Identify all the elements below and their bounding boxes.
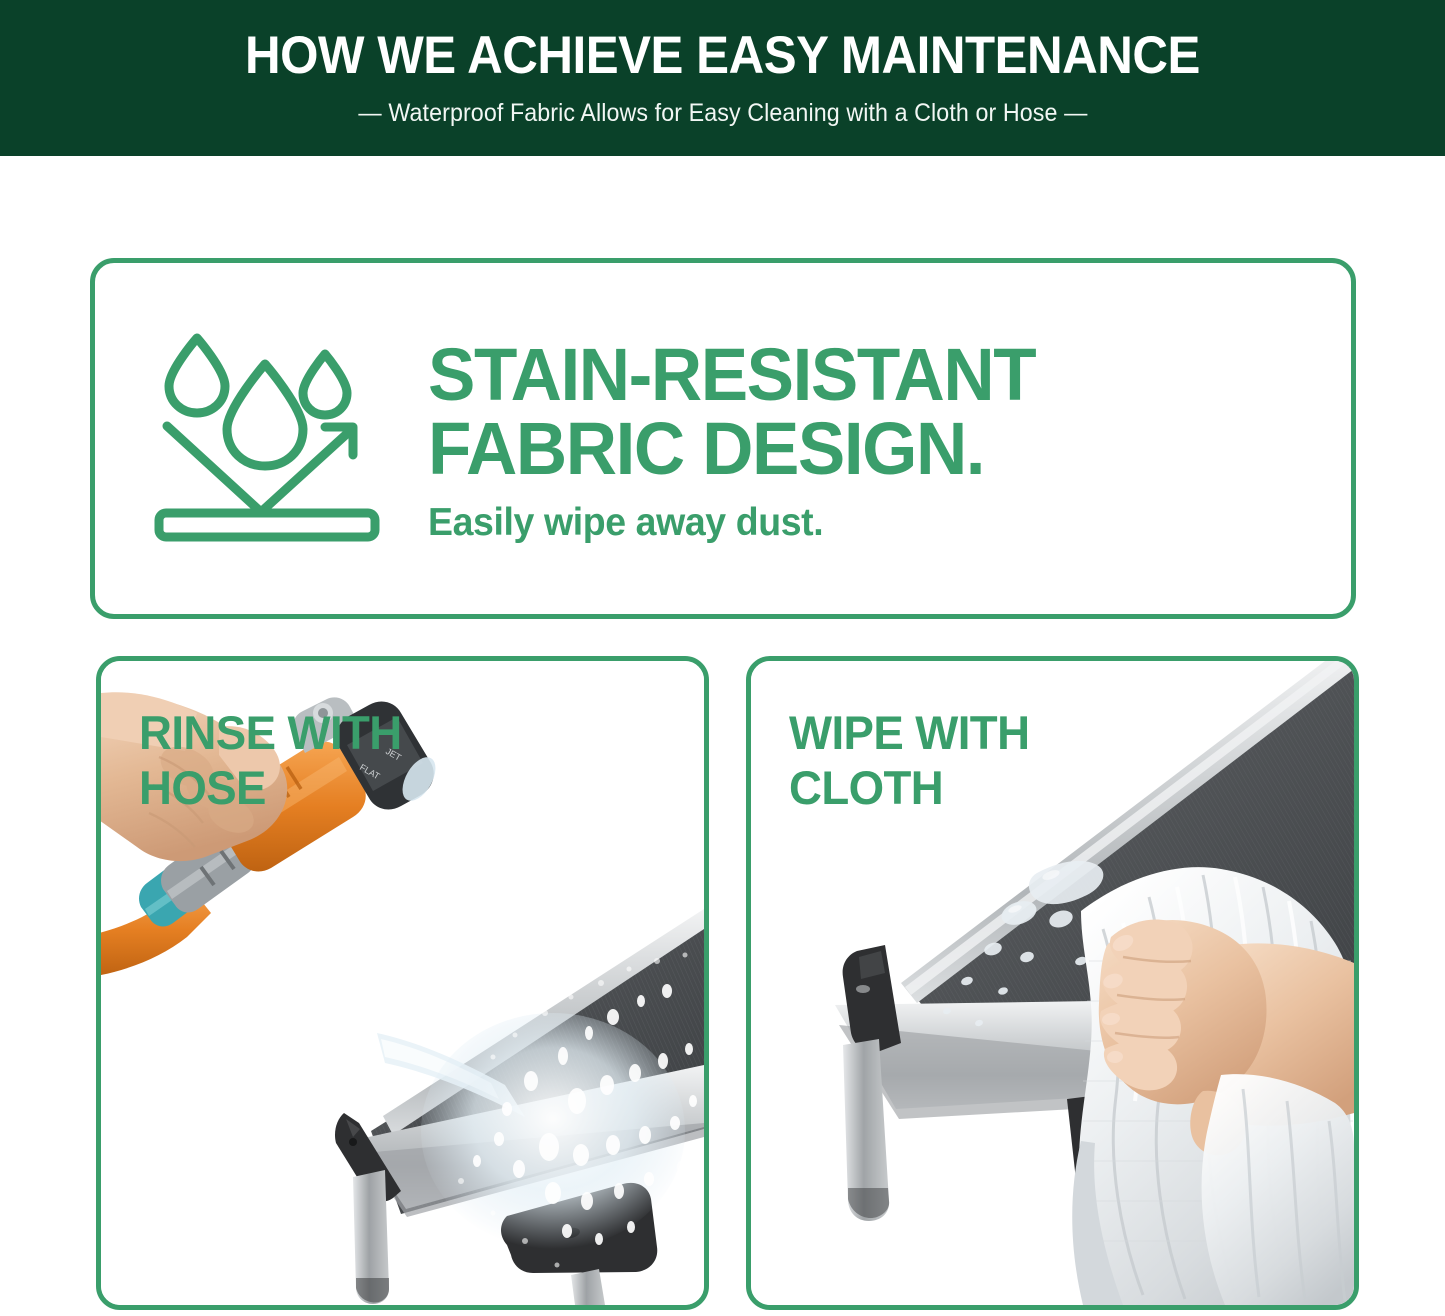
feature-heading-line2: FABRIC DESIGN. — [428, 412, 1314, 485]
header-band: HOW WE ACHIEVE EASY MAINTENANCE — Waterp… — [0, 0, 1445, 156]
feature-card-stain-resistant: STAIN-RESISTANT FABRIC DESIGN. Easily wi… — [90, 258, 1356, 619]
feature-heading-line1: STAIN-RESISTANT — [428, 338, 1314, 411]
infographic-page: HOW WE ACHIEVE EASY MAINTENANCE — Waterp… — [0, 0, 1445, 1316]
page-subtitle: — Waterproof Fabric Allows for Easy Clea… — [358, 99, 1087, 128]
feature-subheading: Easily wipe away dust. — [428, 501, 1314, 545]
hand-spraying-hose-on-pet-cot-photo: FLAT JET — [101, 661, 704, 1305]
water-repellent-fabric-icon — [153, 326, 388, 551]
wipe-with-cloth-card: WIPE WITH CLOTH — [746, 656, 1359, 1310]
hand-wiping-cloth-on-pet-cot-photo — [751, 661, 1354, 1305]
rinse-with-hose-card: RINSE WITH HOSE — [96, 656, 709, 1310]
page-title: HOW WE ACHIEVE EASY MAINTENANCE — [245, 29, 1200, 82]
feature-text-block: STAIN-RESISTANT FABRIC DESIGN. Easily wi… — [428, 332, 1351, 545]
